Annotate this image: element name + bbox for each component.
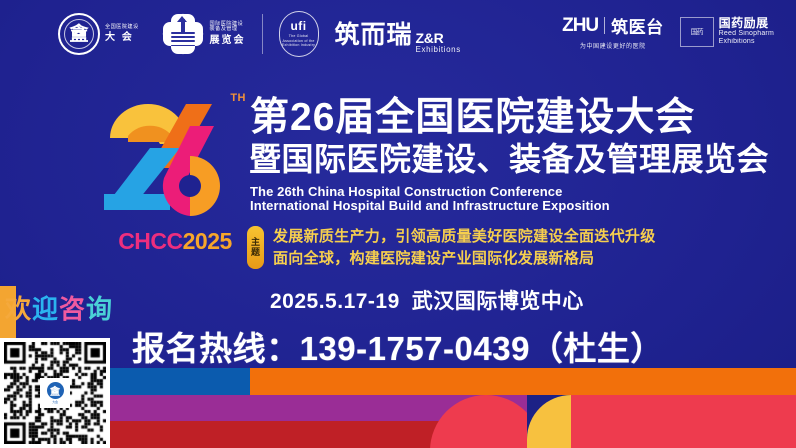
conference-seal-text: 全国医院建设 大 会 [105,25,139,44]
reed-sinopharm-english-2: Exhibitions [719,38,774,46]
reed-sinopharm-english-1: Reed Sinopharm [719,30,774,38]
reed-sinopharm-seal-icon: 国药 [680,17,714,47]
zr-english-block: Z&R Exhibitions [416,31,461,54]
bottom-color-bands [0,368,796,448]
conference-seal-icon: 盦 [58,13,100,55]
snowflake-expo-icon [161,12,205,56]
qr-code-image[interactable]: 盦 大会 [4,342,106,444]
ufi-title: ufi [290,20,306,32]
zhu-chinese-name: 筑医台 [611,13,664,38]
conference-seal-logo: 盦 全国医院建设 大 会 [58,13,139,55]
headline-primary: 第26届全国医院建设大会 [250,98,695,137]
number-26-graphic-icon [102,90,244,220]
ufi-logo-icon: ufi The Global Association of the Exhibi… [279,11,319,57]
welcome-char-1: 欢 [5,294,32,324]
chcc-prefix: CHCC [118,228,182,254]
conference-seal-title: 大 会 [105,32,139,43]
reed-sinopharm-text: 国药励展 Reed Sinopharm Exhibitions [719,17,774,47]
logo-divider [262,14,263,54]
conference-poster: 盦 全国医院建设 大 会 国际医院建设 装备及管理 展览会 uf [0,0,796,448]
welcome-consult-text: 欢迎咨询 [5,296,113,322]
ordinal-suffix-label: TH [230,92,246,104]
theme-line-1: 发展新质生产力，引领高质量美好医院建设全面迭代升级 [273,226,656,248]
welcome-char-4: 询 [86,294,113,324]
band-pink-right [569,395,796,448]
welcome-char-2: 迎 [32,294,59,324]
event-date: 2025.5.17-19 [270,290,400,313]
zhu-mark-text: ZHU [562,15,598,37]
zhu-slogan: 为中国建设更好的医院 [580,41,646,50]
expo-snowflake-text: 国际医院建设 装备及管理 展览会 [210,22,246,47]
qr-code-box[interactable]: 盦 大会 [0,338,110,448]
theme-block: 主 题 发展新质生产力，引领高质量美好医院建设全面迭代升级 面向全球，构建医院建… [247,226,656,270]
welcome-char-3: 咨 [59,294,86,324]
zr-english-main: Z&R [416,31,461,45]
expo-subtitle-line2: 装备及管理 [210,27,246,33]
qr-center-icon: 盦 [47,382,64,399]
zr-chinese-name: 筑而瑞 [335,15,413,51]
band-orange [250,368,796,395]
event-date-venue: 2025.5.17-19武汉国际博览中心 [270,285,584,315]
ufi-subtitle: The Global Association of the Exhibition… [280,34,318,48]
seal-glyph-icon: 盦 [69,25,88,44]
event-venue: 武汉国际博览中心 [412,290,584,313]
conference-seal-subtitle: 全国医院建设 [105,25,139,31]
qr-center-label: 大会 [52,400,58,404]
theme-badge: 主 题 [247,226,264,269]
qr-center-logo: 盦 大会 [40,378,70,408]
headline-secondary: 暨国际医院建设、装备及管理展览会 [249,143,769,175]
registration-hotline: 报名热线：139-1757-0439（杜生） [0,322,796,370]
anniversary-26-mark: TH [102,90,244,220]
expo-snowflake-logo: 国际医院建设 装备及管理 展览会 [161,12,246,56]
headline-english-2: International Hospital Build and Infrast… [250,198,610,214]
partner-logos-right: ZHU 筑医台 为中国建设更好的医院 国药 国药励展 Reed Sinophar… [562,13,774,50]
top-logo-bar: 盦 全国医院建设 大 会 国际医院建设 装备及管理 展览会 uf [0,0,796,68]
theme-line-2: 面向全球，构建医院建设产业国际化发展新格局 [273,248,656,270]
reed-sinopharm-chinese: 国药励展 [719,17,774,31]
zhuyitai-logo: ZHU 筑医台 为中国建设更好的医院 [562,13,664,50]
zhu-divider [604,17,605,34]
expo-title: 展览会 [210,35,246,46]
zr-exhibitions-logo: 筑而瑞 Z&R Exhibitions [335,15,461,54]
theme-badge-char-2: 题 [251,248,260,257]
reed-sinopharm-logo: 国药 国药励展 Reed Sinopharm Exhibitions [680,17,774,47]
theme-text: 发展新质生产力，引领高质量美好医院建设全面迭代升级 面向全球，构建医院建设产业国… [273,226,656,270]
chcc-acronym: CHCC2025 [100,228,250,255]
zr-english-sub: Exhibitions [416,46,461,54]
chcc-year: 2025 [183,228,232,254]
